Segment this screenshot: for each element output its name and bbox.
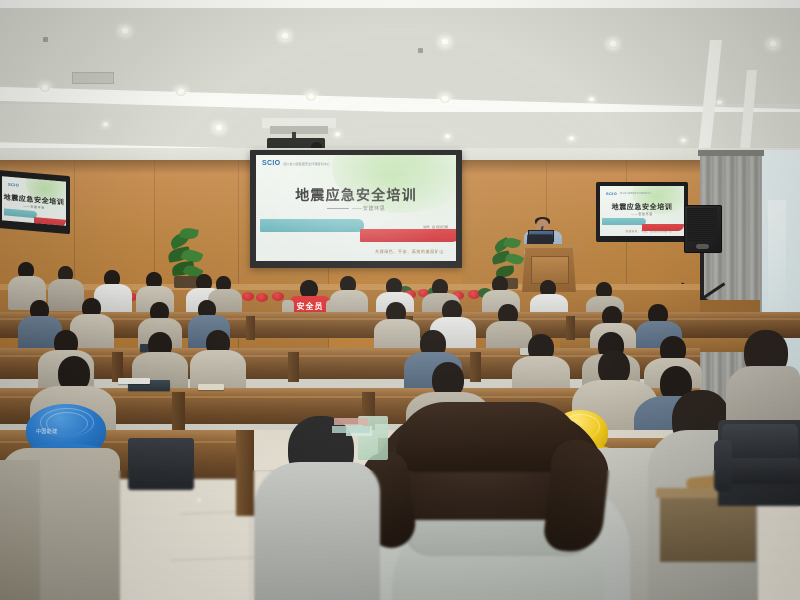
downlight bbox=[588, 97, 595, 102]
tv-slide-title: 地震应急安全培训 bbox=[600, 202, 684, 212]
projection-screen: SCIO 四川省川煤集团安全环保培训中心 地震应急安全培训 ——安建环思 讲师：… bbox=[256, 155, 456, 261]
desk-divider bbox=[288, 352, 299, 382]
slide-logo-mark: SCIO bbox=[262, 160, 280, 167]
paper-slip-on-desk bbox=[334, 418, 368, 425]
slide-logo-subtext: 四川省川煤集团安全环保培训中心 bbox=[283, 162, 330, 166]
sprinkler-head bbox=[43, 37, 48, 42]
desk-divider bbox=[470, 352, 481, 382]
downlight bbox=[440, 95, 450, 103]
desk-end-panel bbox=[236, 430, 254, 516]
tv-slide-canvas: SCIO四川省川煤集团安全环保培训中心 地震应急安全培训 ——安建环思 共建绿色… bbox=[600, 186, 684, 236]
poinsettia bbox=[272, 292, 284, 301]
sofa-seat bbox=[720, 458, 800, 484]
right-wall-tv: SCIO四川省川煤集团安全环保培训中心 地震应急安全培训 ——安建环思 共建绿色… bbox=[600, 186, 684, 236]
foreground-attendee-torso bbox=[254, 462, 380, 600]
sofa-armrest bbox=[714, 440, 732, 492]
slide-bar-teal bbox=[260, 219, 364, 232]
slide-side-note: 讲师：赵 培训日期 bbox=[423, 225, 448, 229]
slide-subtitle: ——安建环思 bbox=[256, 205, 456, 212]
desk-divider bbox=[246, 316, 255, 340]
downlight bbox=[680, 138, 687, 143]
downlight bbox=[214, 124, 224, 132]
sofa-backrest bbox=[722, 424, 798, 458]
projector-lift-arm bbox=[270, 126, 328, 134]
downlight bbox=[608, 40, 618, 48]
slide-logo: SCIO 四川省川煤集团安全环保培训中心 bbox=[262, 160, 330, 167]
downlight bbox=[768, 40, 778, 48]
paper-slip-on-desk bbox=[332, 426, 370, 433]
sprinkler-head bbox=[418, 48, 423, 53]
poinsettia bbox=[256, 293, 268, 302]
paper-on-desk bbox=[198, 384, 224, 390]
curtain-rail bbox=[698, 150, 764, 156]
downlight bbox=[40, 84, 50, 92]
downlight bbox=[440, 38, 450, 46]
slide-canvas: SCIO 四川省川煤集团安全环保培训中心 地震应急安全培训 ——安建环思 讲师：… bbox=[256, 155, 456, 261]
paper-on-desk bbox=[118, 378, 150, 384]
left-wall-tv: SCIO 地震应急安全培训 ——安建环思 bbox=[2, 176, 66, 226]
downlight bbox=[334, 132, 341, 137]
foreground-attendee-left-arm bbox=[0, 460, 40, 600]
blue-hard-hat-text: 中国能建 bbox=[36, 428, 58, 435]
chair-back bbox=[128, 438, 194, 490]
pa-speaker-grill bbox=[687, 208, 717, 242]
downlight bbox=[176, 88, 186, 96]
conference-room-photo: SCIO 四川省川煤集团安全环保培训中心 地震应急安全培训 ——安建环思 讲师：… bbox=[0, 0, 800, 600]
window-reflection bbox=[768, 200, 786, 320]
poinsettia bbox=[242, 292, 254, 301]
slide-footer: 共建绿色、平安、高效的美丽矿山 bbox=[375, 249, 444, 255]
downlight bbox=[444, 134, 451, 139]
floor-reflection bbox=[196, 498, 202, 502]
slide-bar-red bbox=[360, 229, 456, 242]
downlight bbox=[568, 136, 575, 141]
slide-title: 地震应急安全培训 bbox=[256, 185, 456, 205]
safety-officer-vest-text: 安全员 bbox=[294, 302, 326, 311]
downlight bbox=[102, 122, 109, 127]
downlight bbox=[716, 100, 723, 105]
downlight bbox=[280, 32, 290, 40]
desk-divider bbox=[172, 392, 185, 430]
downlight bbox=[120, 27, 130, 35]
pa-speaker-badge bbox=[696, 244, 709, 249]
tv-slide-canvas-left: SCIO 地震应急安全培训 ——安建环思 bbox=[2, 176, 66, 226]
downlight bbox=[306, 93, 316, 101]
attendee-torso bbox=[48, 279, 84, 311]
desk-divider bbox=[566, 316, 575, 340]
ceiling-edge-top bbox=[0, 0, 800, 8]
ceiling-vent bbox=[72, 72, 114, 84]
